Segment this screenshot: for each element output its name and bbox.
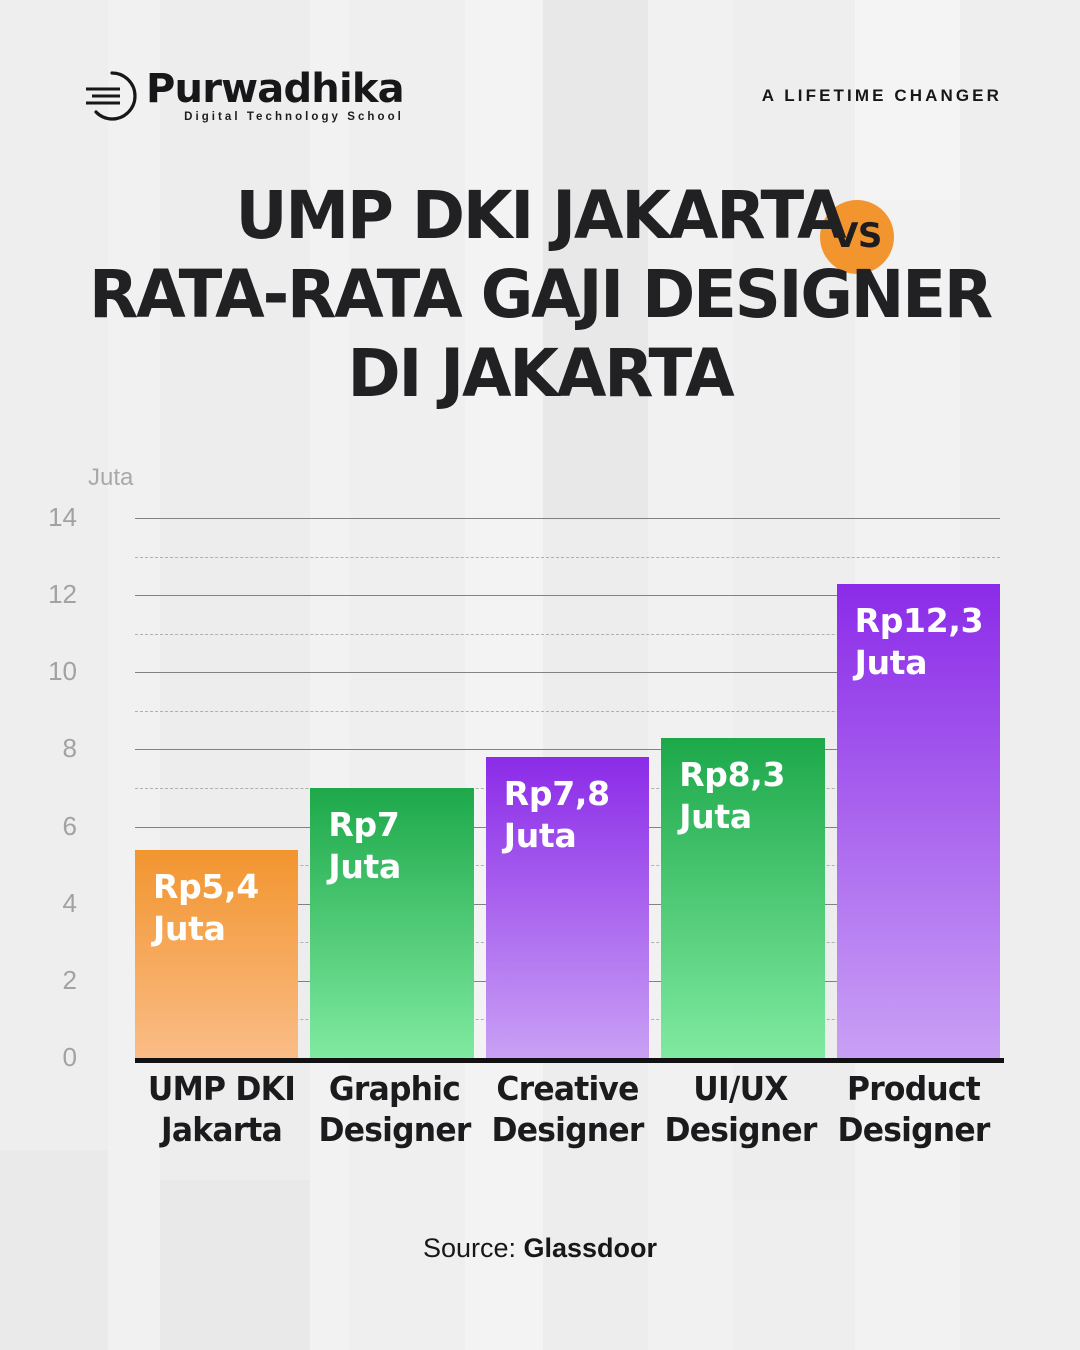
title-line-2: RATA-RATA GAJI DESIGNER <box>16 255 1064 334</box>
bar-chart: Juta Rp5,4 JutaRp7 JutaRp7,8 JutaRp8,3 J… <box>0 460 1080 1080</box>
y-axis-tick-8: 8 <box>17 733 77 764</box>
brand-logo[interactable]: Purwadhika Digital Technology School <box>82 68 404 123</box>
y-axis-tick-4: 4 <box>17 888 77 919</box>
gridline-dashed <box>135 557 1000 558</box>
bar-value-label-3: Rp7,8 Juta <box>504 773 610 857</box>
bar-value-label-4: Rp8,3 Juta <box>679 754 785 838</box>
purwadhika-speed-circle-icon <box>82 70 138 122</box>
brand-name: Purwadhika <box>146 68 404 110</box>
bar-4: Rp8,3 Juta <box>661 738 824 1058</box>
header: Purwadhika Digital Technology School A L… <box>0 0 1080 150</box>
y-axis-tick-14: 14 <box>17 502 77 533</box>
source-prefix: Source: <box>423 1233 524 1263</box>
bar-5: Rp12,3 Juta <box>837 584 1000 1058</box>
y-axis-unit-label: Juta <box>88 464 133 492</box>
bar-value-label-2: Rp7 Juta <box>328 804 401 888</box>
y-axis-tick-0: 0 <box>17 1042 77 1073</box>
y-axis-tick-6: 6 <box>17 811 77 842</box>
category-label-2: Graphic Designer <box>312 1068 476 1150</box>
category-label-1: UMP DKI Jakarta <box>139 1068 303 1150</box>
category-label-3: Creative Designer <box>485 1068 649 1150</box>
page-title: UMP DKI JAKARTA RATA-RATA GAJI DESIGNER … <box>0 176 1080 413</box>
source-name: Glassdoor <box>524 1233 658 1263</box>
x-axis-line <box>135 1058 1004 1063</box>
x-axis-category-labels: UMP DKI JakartaGraphic DesignerCreative … <box>135 1068 1000 1150</box>
brand-subtitle: Digital Technology School <box>146 111 404 123</box>
plot-area: Rp5,4 JutaRp7 JutaRp7,8 JutaRp8,3 JutaRp… <box>135 460 1000 1060</box>
y-axis-tick-10: 10 <box>17 656 77 687</box>
bar-2: Rp7 Juta <box>310 788 473 1058</box>
bar-value-label-1: Rp5,4 Juta <box>153 866 259 950</box>
gridline-solid <box>135 518 1000 519</box>
category-label-5: Product Designer <box>831 1068 995 1150</box>
category-label-4: UI/UX Designer <box>658 1068 822 1150</box>
title-line-1: UMP DKI JAKARTA <box>16 176 1064 255</box>
bar-1: Rp5,4 Juta <box>135 850 298 1058</box>
bar-value-label-5: Rp12,3 Juta <box>855 600 984 684</box>
source-note: Source: Glassdoor <box>0 1233 1080 1264</box>
title-line-3: DI JAKARTA <box>16 334 1064 413</box>
brand-tagline: A LIFETIME CHANGER <box>762 86 1002 106</box>
y-axis-tick-2: 2 <box>17 965 77 996</box>
bar-3: Rp7,8 Juta <box>486 757 649 1058</box>
y-axis-tick-12: 12 <box>17 579 77 610</box>
infographic-canvas: Purwadhika Digital Technology School A L… <box>0 0 1080 1350</box>
